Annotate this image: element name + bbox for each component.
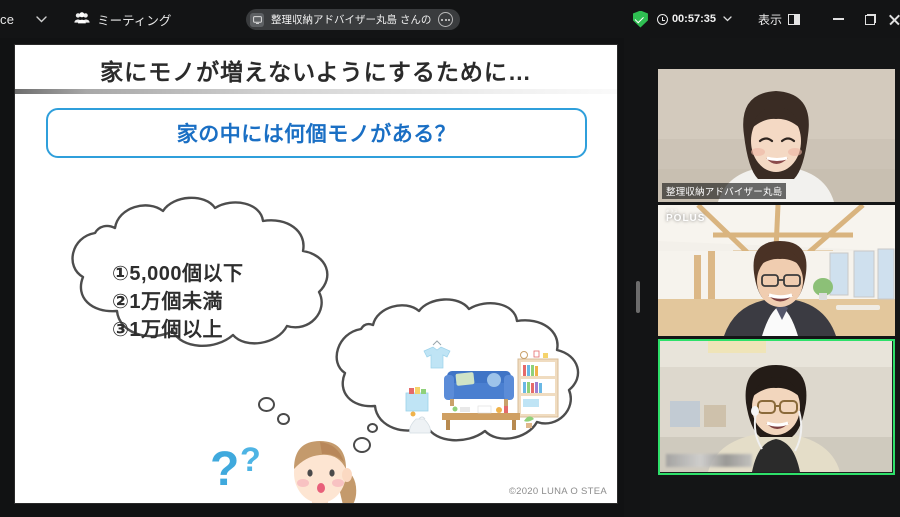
close-icon xyxy=(888,14,899,25)
window-controls xyxy=(822,0,900,38)
furniture-illustration xyxy=(400,337,570,437)
toolbar-left-group: ce ミーティング xyxy=(0,8,171,30)
top-toolbar: ce ミーティング xyxy=(0,0,900,38)
copyright-text: ©2020 LUNA O STEA xyxy=(509,486,607,497)
minimize-button[interactable] xyxy=(822,0,854,38)
option-1: ①5,000個以下 xyxy=(112,261,243,288)
option-3: ③1万個以上 xyxy=(112,317,243,344)
minimize-icon xyxy=(833,18,844,20)
plant-icon xyxy=(524,416,534,428)
bag-icon xyxy=(410,417,431,433)
video-feed-2: ポラス POLUS xyxy=(658,205,895,336)
view-layout-button[interactable]: 表示 xyxy=(758,11,800,28)
video-feed-3 xyxy=(660,341,893,473)
shared-content-chip[interactable]: 整理収納アドバイザー丸島 さんの xyxy=(246,9,460,30)
close-button[interactable] xyxy=(886,0,900,38)
app-name-label: ce xyxy=(0,12,14,27)
more-options-icon[interactable] xyxy=(438,12,453,27)
sofa-icon xyxy=(444,371,514,406)
chevron-down-icon[interactable] xyxy=(723,13,732,25)
question-box: 家の中には何個モノがある？ xyxy=(46,108,587,158)
chevron-down-icon[interactable] xyxy=(30,8,52,30)
timer-value: 00:57:35 xyxy=(672,13,716,25)
layout-grid-icon xyxy=(788,14,800,25)
toolbar-right-group: 00:57:35 表示 xyxy=(633,0,900,38)
participants-video-panel: 整理収納アドバイザー丸島 xyxy=(650,38,900,517)
title-divider xyxy=(15,89,617,94)
logo-label: POLUS xyxy=(666,213,705,224)
participant-name-badge-1: 整理収納アドバイザー丸島 xyxy=(662,183,786,199)
shared-screen-stage: 家にモノが増えないようにするために… 家の中には何個モノがある？ ①5,000個… xyxy=(0,38,632,517)
video-feed-1: 整理収納アドバイザー丸島 xyxy=(658,69,895,202)
clock-icon xyxy=(657,14,668,25)
screen-share-icon xyxy=(250,13,264,27)
video-tile-1[interactable]: 整理収納アドバイザー丸島 xyxy=(658,69,895,202)
view-label: 表示 xyxy=(758,11,782,28)
question-box-text: 家の中には何個モノがある？ xyxy=(177,118,457,148)
slide-title: 家にモノが増えないようにするために… xyxy=(15,53,617,87)
thinking-woman-illustration xyxy=(270,425,370,504)
answer-options: ①5,000個以下 ②1万個未満 ③1万個以上 xyxy=(112,261,243,345)
shared-content-label: 整理収納アドバイザー丸島 さんの xyxy=(271,12,431,27)
panel-resize-handle[interactable] xyxy=(636,281,640,313)
bookshelf-icon xyxy=(518,351,558,417)
toy-box-icon xyxy=(406,387,428,417)
video-tile-3[interactable] xyxy=(658,339,895,475)
video-tile-2[interactable]: ポラス POLUS xyxy=(658,205,895,336)
virtual-background-logo: ポラス POLUS xyxy=(666,210,705,224)
blurred-overlay xyxy=(666,454,752,467)
people-icon xyxy=(74,12,90,27)
option-2: ②1万個未満 xyxy=(112,289,243,316)
thought-dot-small xyxy=(277,413,290,425)
coffee-table-icon xyxy=(442,406,520,430)
thought-dot-medium xyxy=(258,397,275,412)
meeting-timer[interactable]: 00:57:35 xyxy=(657,13,732,25)
restore-icon xyxy=(865,14,876,25)
meeting-menu[interactable]: ミーティング xyxy=(74,10,171,29)
restore-button[interactable] xyxy=(854,0,886,38)
svg-text:?: ? xyxy=(210,443,239,496)
shield-check-icon[interactable] xyxy=(633,11,648,28)
logo-sub-label: ポラス xyxy=(666,210,705,214)
svg-text:?: ? xyxy=(240,441,261,479)
meeting-app-window: ce ミーティング xyxy=(0,0,900,517)
presentation-slide: 家にモノが増えないようにするために… 家の中には何個モノがある？ ①5,000個… xyxy=(14,44,618,504)
shirt-icon xyxy=(424,341,450,368)
panel-divider xyxy=(624,38,650,517)
meeting-label: ミーティング xyxy=(97,10,171,29)
